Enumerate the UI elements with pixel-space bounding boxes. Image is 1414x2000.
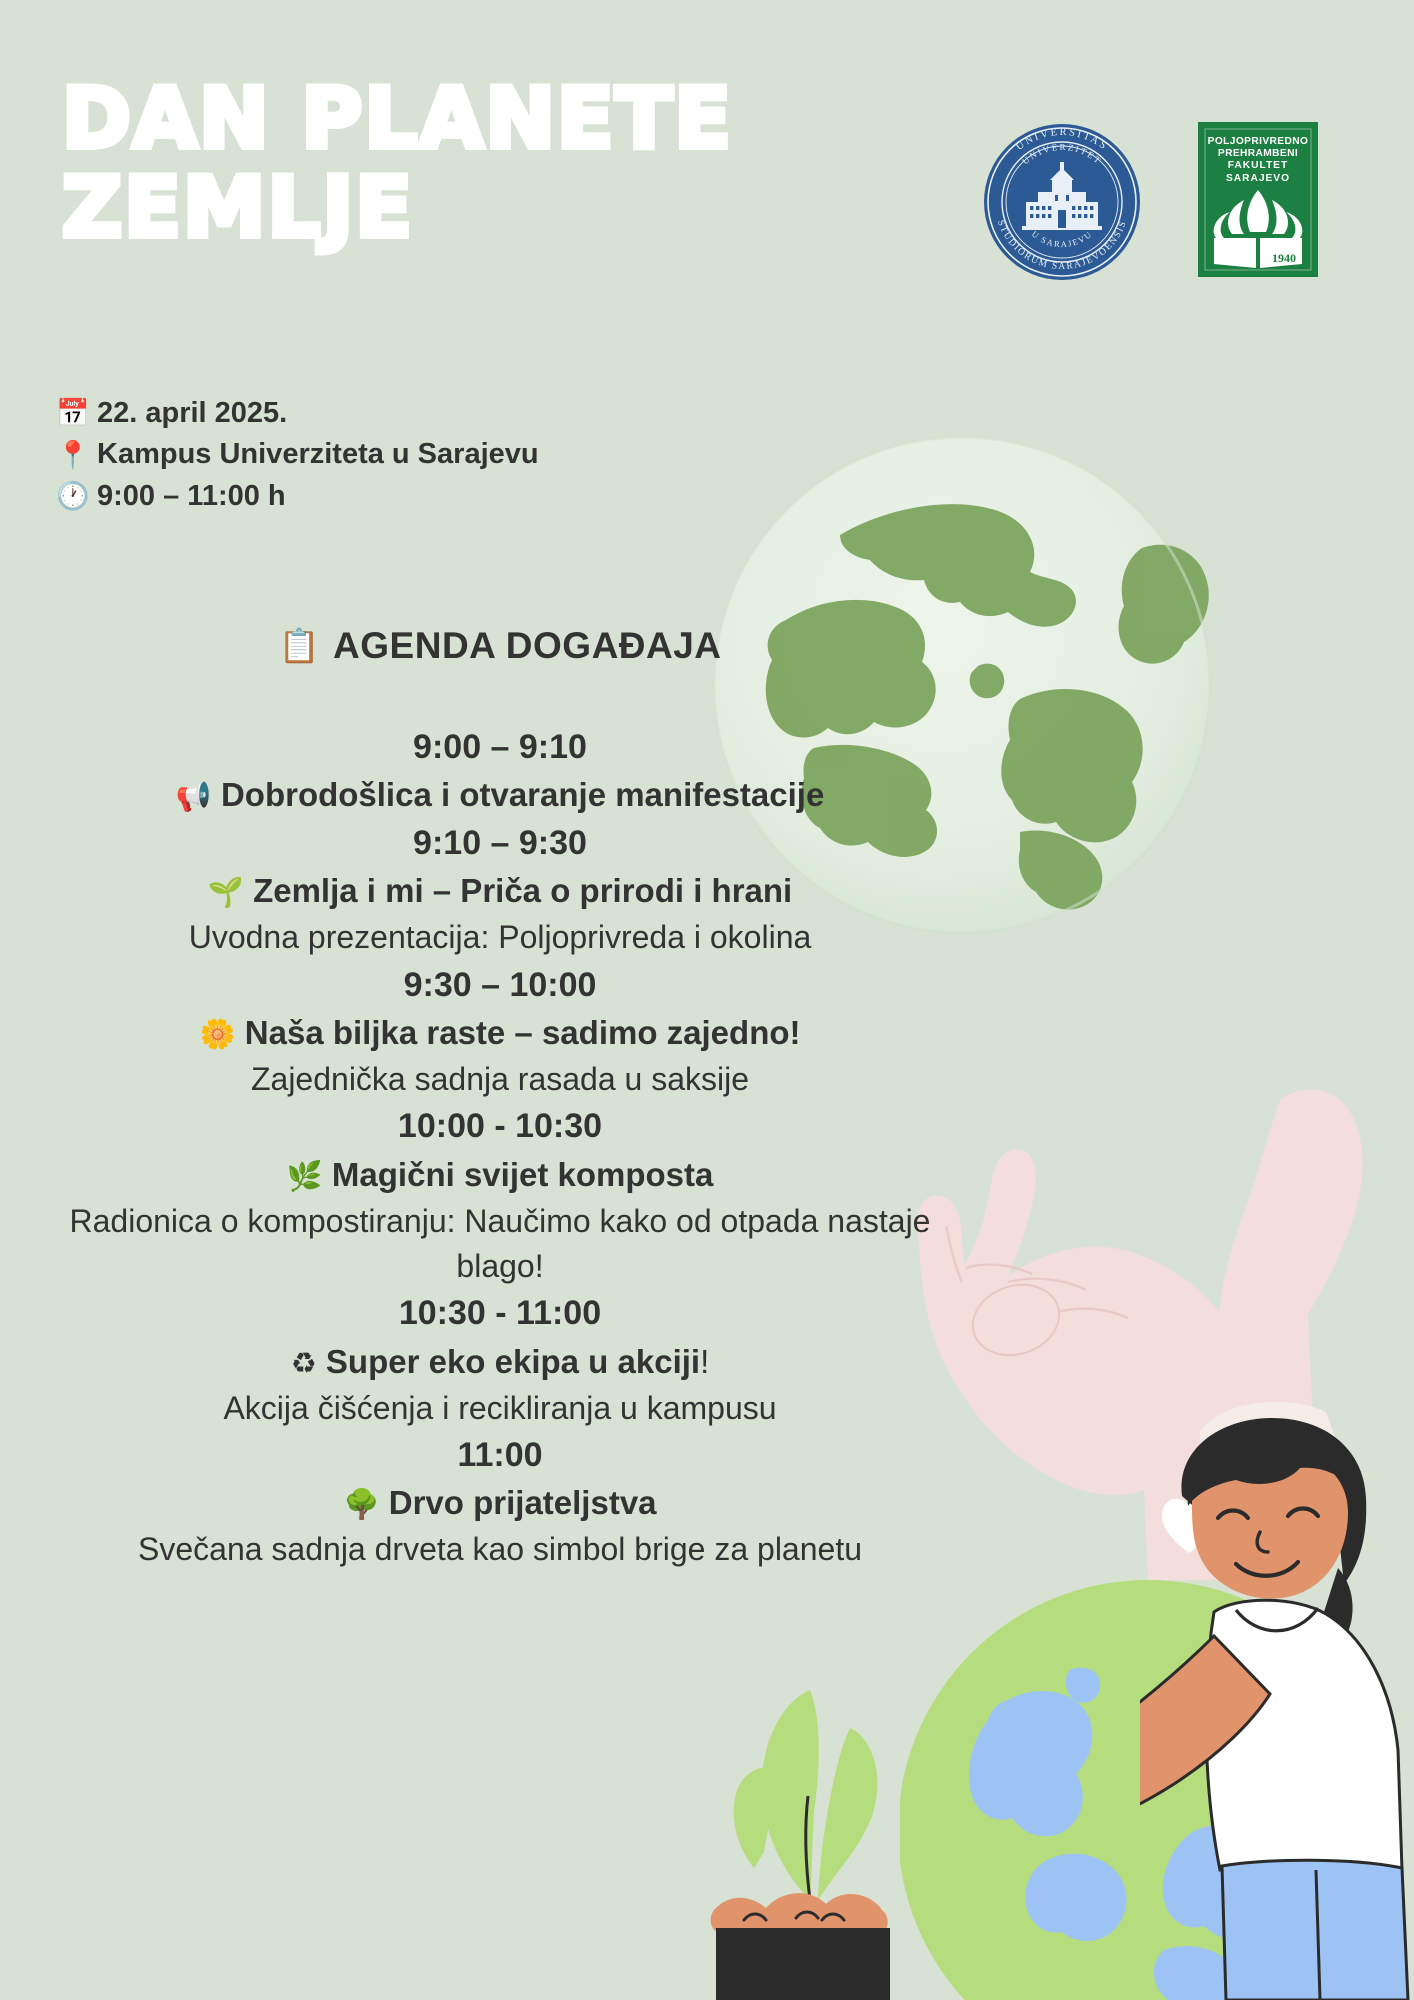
child-hugging-earth [1140,1400,1414,2000]
agenda-item-description: Akcija čišćenja i recikliranja u kampusu [50,1386,950,1431]
agenda-item-title: 🌱 Zemlja i mi – Priča o prirodi i hrani [0,868,1000,915]
agenda-item-time: 11:00 [0,1431,1000,1480]
event-details: 📅 22. april 2025. 📍 Kampus Univerziteta … [56,393,539,517]
logo-group: UNIVERSITAS STUDIORUM SARAJEVOENSIS UNIV… [982,122,1318,282]
agenda-item-description: Uvodna prezentacija: Poljoprivreda i oko… [50,915,950,960]
event-location-row: 📍 Kampus Univerziteta u Sarajevu [56,434,539,475]
agenda-item-title: 🌼 Naša biljka raste – sadimo zajedno! [0,1010,1000,1057]
svg-text:PREHRAMBENI: PREHRAMBENI [1218,148,1298,159]
blossom-icon: 🌼 [200,1017,236,1051]
agenda-item: 10:00 - 10:30 🌿 Magični svijet komposta … [0,1102,1000,1289]
poster-root: DAN PLANETE ZEMLJE UNIVERSITAS [0,0,1414,2000]
agenda-item-description: Svečana sadnja drveta kao simbol brige z… [50,1527,950,1572]
faculty-of-agriculture-and-food-sciences-logo: POLJOPRIVREDNO PREHRAMBENI FAKULTET SARA… [1198,122,1318,277]
agenda-item-time: 9:00 – 9:10 [0,723,1000,772]
event-time: 9:00 – 11:00 h [97,476,286,517]
herb-icon: 🌿 [287,1159,323,1193]
svg-text:POLJOPRIVREDNO: POLJOPRIVREDNO [1208,136,1309,147]
title-line-1: DAN PLANETE [62,78,822,159]
agenda-item-title: 📢 Dobrodošlica i otvaranje manifestacije [0,772,1000,819]
event-location: Kampus Univerziteta u Sarajevu [97,434,539,475]
seedling-icon: 🌱 [208,875,244,909]
event-date-row: 📅 22. april 2025. [56,393,539,434]
heart-icon [1157,1493,1221,1555]
clipboard-icon: 📋 [278,626,320,666]
agenda-item-title: 🌿 Magični svijet komposta [0,1152,1000,1199]
tree-icon: 🌳 [343,1487,379,1521]
agenda-item-title: ♻ Super eko ekipa u akciji! [0,1339,1000,1386]
agenda-item: 11:00 🌳 Drvo prijateljstva Svečana sadnj… [0,1431,1000,1573]
potted-plant [690,1600,950,2000]
svg-text:SARAJEVO: SARAJEVO [1226,173,1290,184]
recycling-icon: ♻ [291,1346,317,1380]
clock-icon: 🕐 [56,483,86,510]
agenda-item-title-suffix: ! [700,1343,709,1380]
agenda-item: 9:30 – 10:00 🌼 Naša biljka raste – sadim… [0,961,1000,1103]
location-pin-icon: 📍 [56,442,86,469]
flat-earth-globe [900,1580,1414,2000]
agenda-section: 📋 AGENDA DOGAĐAJA 9:00 – 9:10 📢 Dobrodoš… [0,625,1000,1573]
agenda-item-time: 9:30 – 10:00 [0,961,1000,1010]
agenda-item-time: 10:00 - 10:30 [0,1102,1000,1151]
agenda-item: 9:10 – 9:30 🌱 Zemlja i mi – Priča o prir… [0,819,1000,961]
agenda-item-time: 10:30 - 11:00 [0,1289,1000,1338]
agenda-heading-label: AGENDA DOGAĐAJA [333,625,721,667]
agenda-item-time: 9:10 – 9:30 [0,819,1000,868]
title-line-2: ZEMLJE [62,167,822,248]
agenda-item-title: 🌳 Drvo prijateljstva [0,1480,1000,1527]
svg-text:1940: 1940 [1272,251,1296,265]
agenda-item-title-label: Drvo prijateljstva [389,1484,657,1521]
agenda-item-title-label: Magični svijet komposta [332,1156,713,1193]
agenda-item-title-label: Super eko ekipa u akciji [326,1343,700,1380]
megaphone-icon: 📢 [176,779,212,813]
calendar-icon: 📅 [56,400,86,427]
poster-title: DAN PLANETE ZEMLJE [62,78,822,257]
agenda-item: 10:30 - 11:00 ♻ Super eko ekipa u akciji… [0,1289,1000,1431]
agenda-item-description: Zajednička sadnja rasada u saksije [50,1057,950,1102]
event-time-row: 🕐 9:00 – 11:00 h [56,476,539,517]
agenda-item-description: Radionica o kompostiranju: Naučimo kako … [50,1199,950,1290]
event-date: 22. april 2025. [97,393,287,434]
svg-text:FAKULTET: FAKULTET [1228,160,1288,171]
agenda-item-title-label: Naša biljka raste – sadimo zajedno! [245,1014,801,1051]
agenda-item-title-label: Dobrodošlica i otvaranje manifestacije [221,776,824,813]
university-of-sarajevo-seal: UNIVERSITAS STUDIORUM SARAJEVOENSIS UNIV… [982,122,1142,282]
agenda-item: 9:00 – 9:10 📢 Dobrodošlica i otvaranje m… [0,723,1000,819]
agenda-item-title-label: Zemlja i mi – Priča o prirodi i hrani [253,872,792,909]
agenda-heading: 📋 AGENDA DOGAĐAJA [0,625,1000,667]
